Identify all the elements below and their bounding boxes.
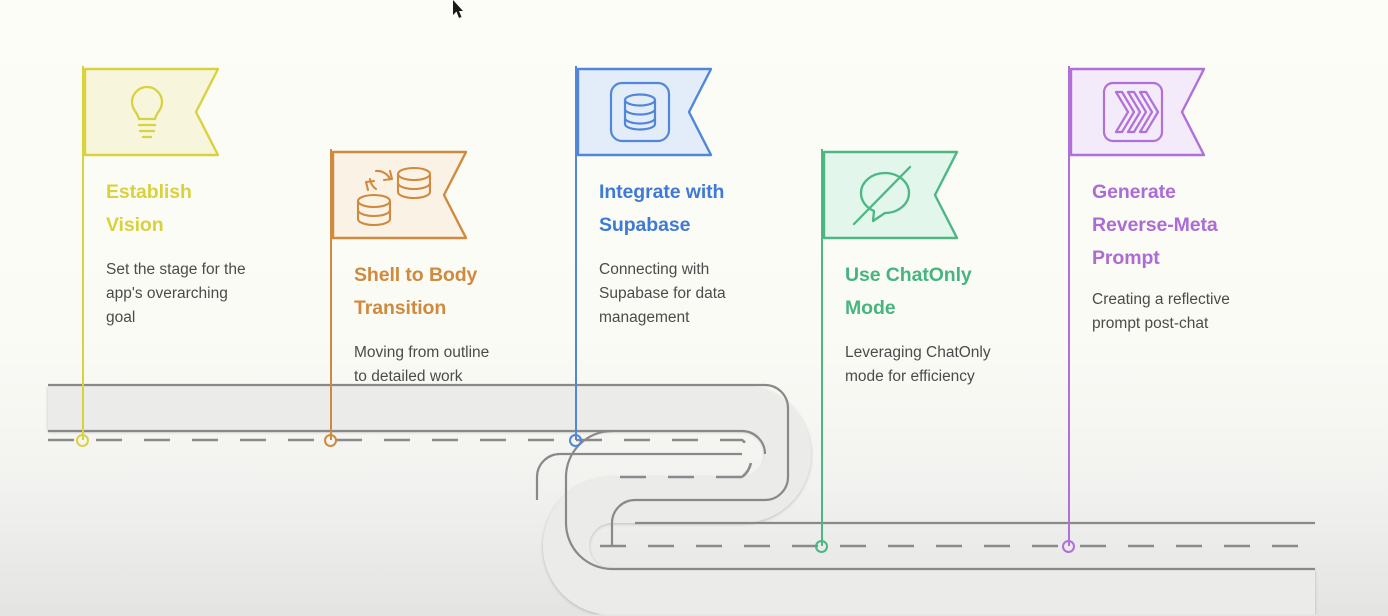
flag-banner	[332, 149, 468, 241]
milestone-title: Use ChatOnly Mode	[845, 259, 972, 325]
milestone-description: Leveraging ChatOnly mode for efficiency	[845, 341, 991, 389]
milestone-title: Establish Vision	[106, 176, 192, 242]
road-node-generate-reverse-meta-prompt[interactable]	[1062, 540, 1075, 553]
flag-banner	[1070, 66, 1206, 158]
upper-road-bottom-edge	[48, 431, 765, 454]
milestone-title: Integrate with Supabase	[599, 176, 724, 242]
flag-banner	[84, 66, 220, 158]
flag-banner	[823, 149, 959, 241]
milestone-title: Generate Reverse-Meta Prompt	[1092, 176, 1218, 274]
milestone-title: Shell to Body Transition	[354, 259, 477, 325]
milestone-description: Moving from outline to detailed work	[354, 341, 489, 389]
milestone-description: Set the stage for the app's overarching …	[106, 258, 246, 330]
flag-banner	[577, 66, 713, 158]
road-node-integrate-with-supabase[interactable]	[569, 434, 582, 447]
milestone-description: Creating a reflective prompt post-chat	[1092, 288, 1230, 336]
road-node-use-chatonly-mode[interactable]	[815, 540, 828, 553]
road-node-shell-to-body-transition[interactable]	[324, 434, 337, 447]
roadmap-infographic: Establish Vision Set the stage for the a…	[0, 0, 1388, 616]
upper-center-dash	[48, 440, 751, 477]
milestone-description: Connecting with Supabase for data manage…	[599, 258, 726, 330]
mouse-pointer-icon	[452, 0, 464, 20]
road-node-establish-vision[interactable]	[76, 434, 89, 447]
